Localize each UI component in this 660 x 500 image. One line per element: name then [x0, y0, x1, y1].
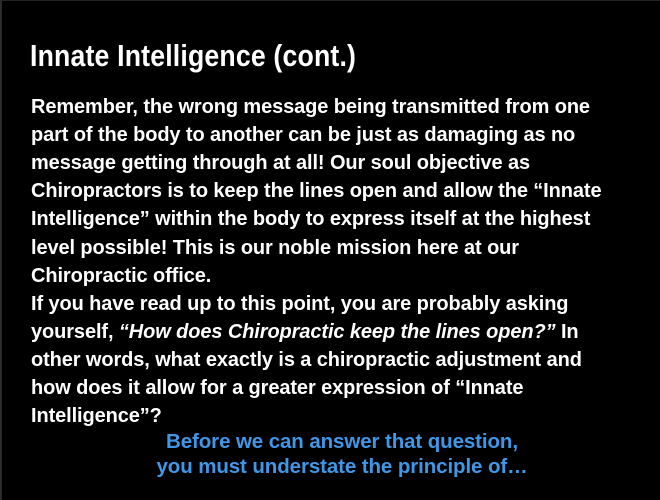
page-title: Innate Intelligence (cont.)	[30, 38, 546, 74]
callout-line-2: you must understate the principle of…	[32, 454, 652, 479]
body-paragraph-2: If you have read up to this point, you a…	[31, 290, 624, 431]
quoted-question: “How does Chiropractic keep the lines op…	[119, 320, 556, 343]
slide-root: Innate Intelligence (cont.) Remember, th…	[0, 0, 660, 500]
callout-block: Before we can answer that question, you …	[32, 429, 652, 479]
body-paragraph-1: Remember, the wrong message being transm…	[31, 93, 624, 290]
callout-line-1: Before we can answer that question,	[32, 429, 652, 454]
